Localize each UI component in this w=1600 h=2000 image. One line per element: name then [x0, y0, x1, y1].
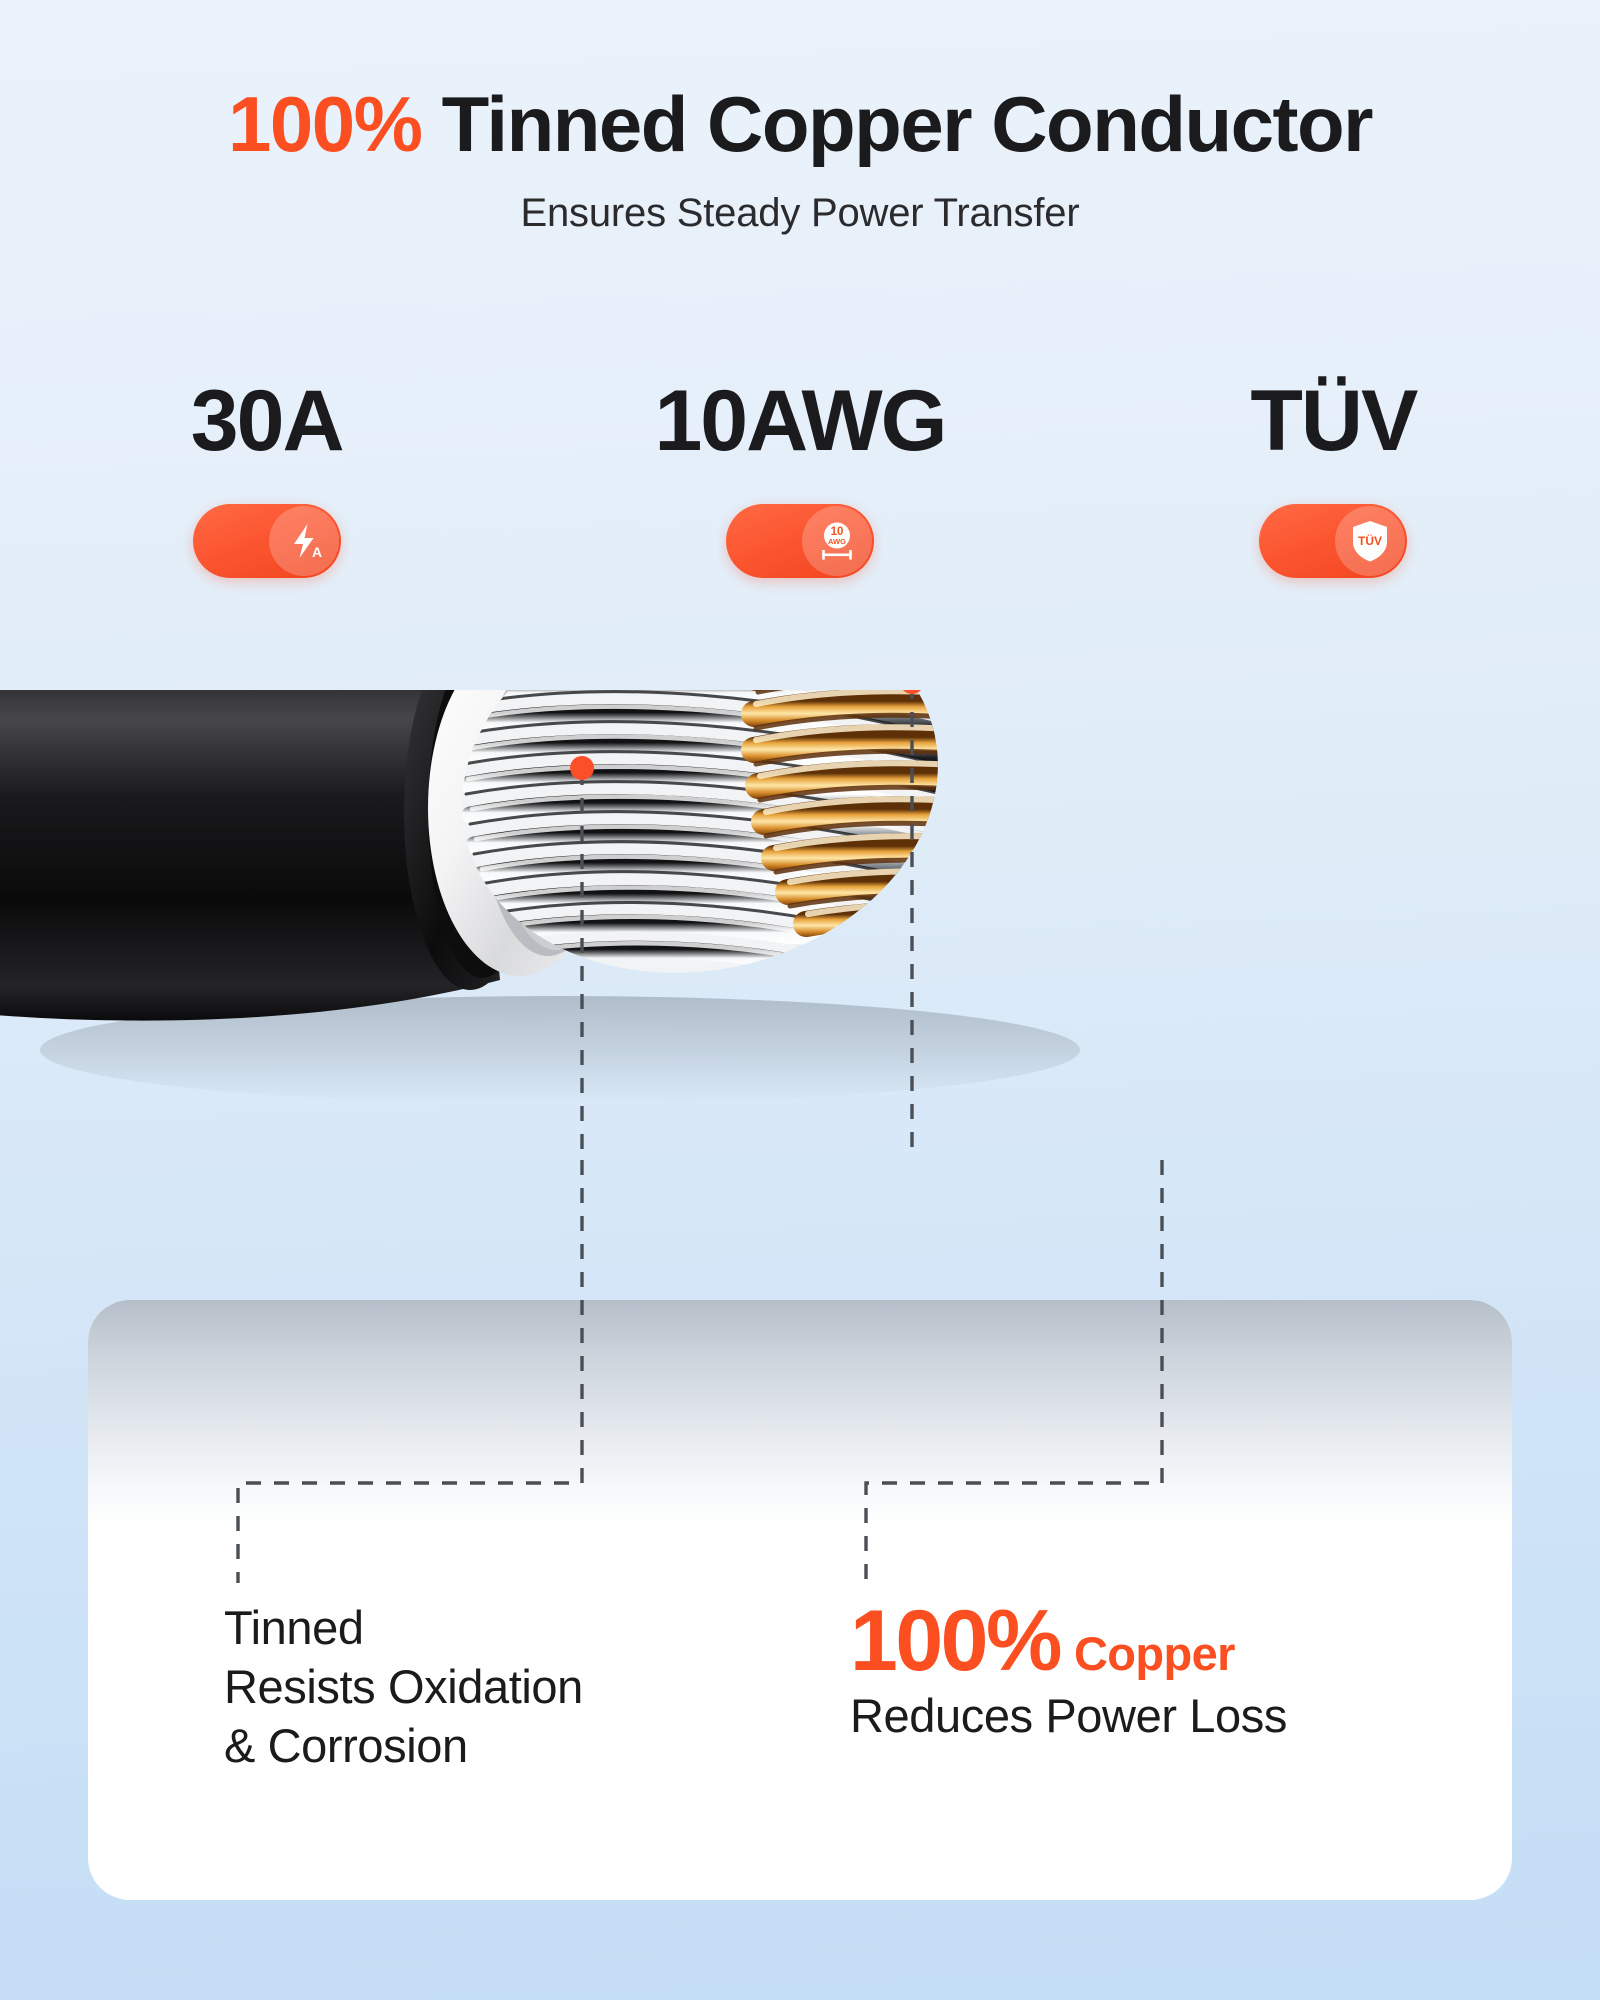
- callout-tinned: Tinned Resists Oxidation & Corrosion: [224, 1598, 583, 1776]
- lightning-bolt-amp-icon: A: [282, 519, 326, 563]
- pill-toggle-amperage: A: [193, 504, 341, 578]
- card-top-gradient: [88, 1300, 1512, 1530]
- callout-copper-headline: 100% Copper: [850, 1598, 1287, 1684]
- page-title: 100% Tinned Copper Conductor: [0, 0, 1600, 165]
- header: 100% Tinned Copper Conductor Ensures Ste…: [0, 0, 1600, 236]
- gauge-10awg-icon: 10 AWG: [814, 518, 860, 564]
- callout-tinned-line2: Resists Oxidation: [224, 1657, 583, 1716]
- svg-text:AWG: AWG: [828, 537, 846, 546]
- spec-item-certification: TÜV TÜV: [1067, 378, 1600, 578]
- pill-toggle-certification: TÜV: [1259, 504, 1407, 578]
- pill-knob-certification: TÜV: [1335, 506, 1405, 576]
- title-highlight: 100%: [228, 80, 422, 168]
- spec-badge-row: 30A A 10AWG 10 AWG: [0, 378, 1600, 578]
- callout-tinned-line3: & Corrosion: [224, 1716, 583, 1775]
- product-image-stage: [0, 690, 1600, 1390]
- callout-copper-benefit: Reduces Power Loss: [850, 1686, 1287, 1745]
- page-subtitle: Ensures Steady Power Transfer: [0, 165, 1600, 236]
- spec-item-amperage: 30A A: [0, 378, 533, 578]
- shield-tuv-icon: TÜV: [1348, 518, 1392, 564]
- callout-tinned-line1: Tinned: [224, 1598, 583, 1657]
- svg-text:TÜV: TÜV: [1358, 533, 1382, 548]
- spec-label-gauge: 10AWG: [654, 378, 945, 464]
- pill-toggle-gauge: 10 AWG: [726, 504, 874, 578]
- pill-knob-amperage: A: [269, 506, 339, 576]
- callout-copper-material: Copper: [1074, 1626, 1235, 1681]
- spec-label-amperage: 30A: [191, 378, 343, 464]
- callout-copper-percent: 100%: [850, 1598, 1060, 1684]
- tinned-strand-hotspot: [570, 756, 594, 780]
- spec-item-gauge: 10AWG 10 AWG: [533, 378, 1066, 578]
- pill-knob-gauge: 10 AWG: [802, 506, 872, 576]
- callout-copper: 100% Copper Reduces Power Loss: [850, 1598, 1287, 1745]
- tinned-copper-cable-cutaway: [0, 690, 1600, 1390]
- spec-label-certification: TÜV: [1250, 378, 1416, 464]
- svg-text:A: A: [312, 544, 322, 560]
- title-rest: Tinned Copper Conductor: [442, 80, 1372, 168]
